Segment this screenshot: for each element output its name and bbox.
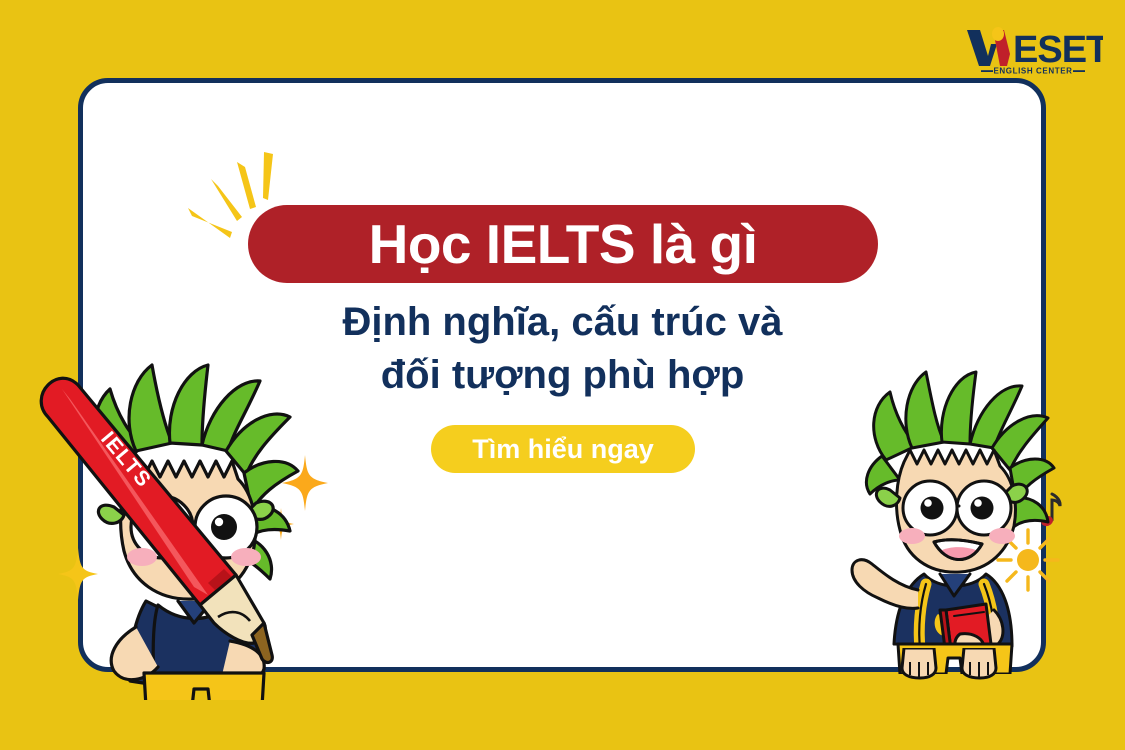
logo-tagline: ENGLISH CENTER	[993, 67, 1072, 75]
mascot-right	[842, 352, 1072, 679]
cta-label: Tìm hiểu ngay	[472, 434, 654, 465]
mascot-left: IELTS	[18, 355, 318, 705]
cta-button[interactable]: Tìm hiểu ngay	[431, 425, 695, 473]
weset-logo[interactable]: ESET ENGLISH CENTER	[963, 22, 1103, 74]
svg-text:ESET: ESET	[1013, 29, 1103, 71]
headline-text: Học IELTS là gì	[369, 217, 758, 272]
mascot-right-legs	[890, 648, 1020, 696]
subtitle-line-1: Định nghĩa, cấu trúc và	[0, 296, 1125, 349]
headline-pill: Học IELTS là gì	[248, 205, 878, 283]
banner-canvas: Học IELTS là gì Định nghĩa, cấu trúc và …	[0, 0, 1125, 750]
